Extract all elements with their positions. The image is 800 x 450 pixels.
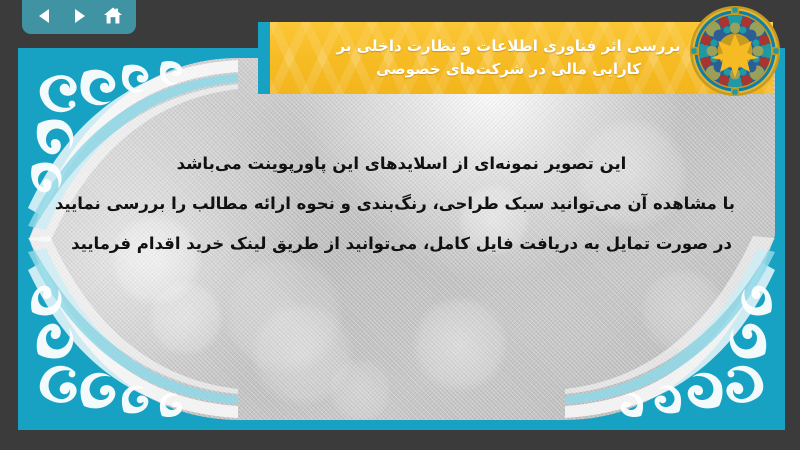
bokeh-light xyxy=(688,358,758,420)
body-line-1: این تصویر نمونه‌ای از اسلایدهای این پاور… xyxy=(68,144,735,184)
body-line-3: در صورت تمایل به دریافت فایل کامل، می‌تو… xyxy=(68,224,735,264)
slide-navigation-bar xyxy=(22,0,136,34)
slide-stage: این تصویر نمونه‌ای از اسلایدهای این پاور… xyxy=(0,0,800,450)
bokeh-light xyxy=(412,296,508,392)
bokeh-light xyxy=(250,302,354,406)
next-slide-button[interactable] xyxy=(66,3,92,29)
slide-content-panel: این تصویر نمونه‌ای از اسلایدهای این پاور… xyxy=(18,48,785,430)
bokeh-light xyxy=(224,254,344,374)
title-accent-strip xyxy=(258,22,270,94)
bokeh-light xyxy=(328,358,392,420)
slide-canvas: این تصویر نمونه‌ای از اسلایدهای این پاور… xyxy=(28,58,775,420)
previous-slide-button[interactable] xyxy=(32,3,58,29)
home-button[interactable] xyxy=(100,3,126,29)
persian-ornament-medallion xyxy=(688,4,782,98)
slide-body-text: این تصویر نمونه‌ای از اسلایدهای این پاور… xyxy=(68,144,735,264)
bokeh-light xyxy=(148,280,224,356)
bokeh-light xyxy=(640,268,726,354)
title-line-1: بررسی اثر فناوری اطلاعات و نظارت داخلی ب… xyxy=(337,36,681,57)
bokeh-light xyxy=(68,344,126,402)
title-line-2: کارایی مالی در شرکت‌های خصوصی xyxy=(376,59,641,80)
body-line-2: با مشاهده آن می‌توانید سبک طراحی، رنگ‌بن… xyxy=(68,184,735,224)
